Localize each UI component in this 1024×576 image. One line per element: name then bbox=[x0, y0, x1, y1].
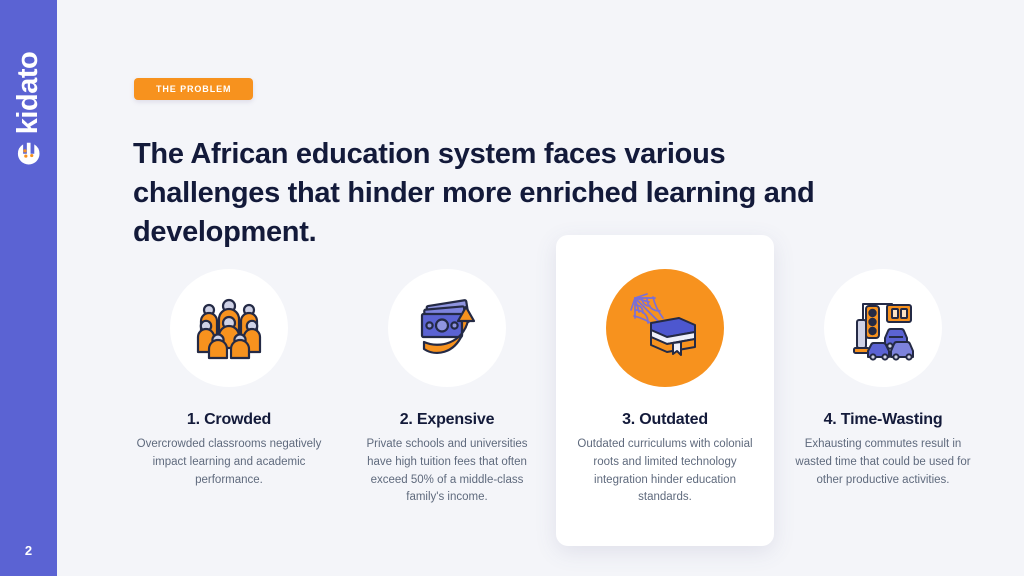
page-number: 2 bbox=[0, 543, 57, 558]
cobweb-books-icon bbox=[629, 292, 701, 364]
card-title: 2. Expensive bbox=[400, 411, 495, 429]
kidato-circle-mark-icon bbox=[15, 140, 42, 167]
icon-circle-expensive bbox=[388, 269, 506, 387]
crowd-of-people-icon bbox=[193, 292, 265, 364]
problem-card-crowded[interactable]: 1. Crowded Overcrowded classrooms negati… bbox=[120, 235, 338, 489]
brand-logo-text: kidato bbox=[14, 51, 43, 133]
card-title: 3. Outdated bbox=[622, 411, 708, 429]
card-body: Private schools and universities have hi… bbox=[354, 436, 540, 507]
traffic-jam-icon bbox=[847, 292, 919, 364]
money-rising-arrow-icon bbox=[410, 291, 484, 365]
card-body: Overcrowded classrooms negatively impact… bbox=[136, 436, 322, 489]
card-body: Outdated curriculums with colonial roots… bbox=[569, 436, 761, 507]
problem-cards-row: 1. Crowded Overcrowded classrooms negati… bbox=[120, 235, 992, 555]
sidebar: kidato 2 bbox=[0, 0, 57, 576]
slide-canvas: kidato 2 THE PROBLEM The African educati… bbox=[0, 0, 1024, 576]
icon-circle-crowded bbox=[170, 269, 288, 387]
section-badge: THE PROBLEM bbox=[134, 78, 253, 100]
icon-circle-time-wasting bbox=[824, 269, 942, 387]
card-title: 1. Crowded bbox=[187, 411, 271, 429]
problem-card-time-wasting[interactable]: 4. Time-Wasting Exhausting commutes resu… bbox=[774, 235, 992, 489]
brand-logo[interactable]: kidato bbox=[0, 14, 57, 204]
card-title: 4. Time-Wasting bbox=[824, 411, 943, 429]
problem-card-expensive[interactable]: 2. Expensive Private schools and univers… bbox=[338, 235, 556, 507]
card-body: Exhausting commutes result in wasted tim… bbox=[790, 436, 976, 489]
icon-circle-outdated bbox=[606, 269, 724, 387]
problem-card-outdated[interactable]: 3. Outdated Outdated curriculums with co… bbox=[556, 235, 774, 546]
